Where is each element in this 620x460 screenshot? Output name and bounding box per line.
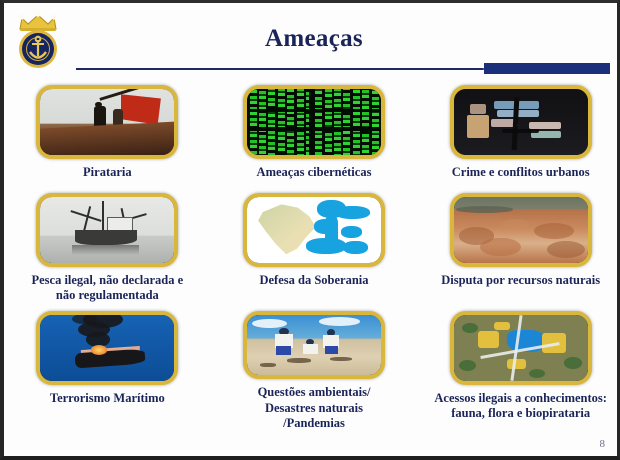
threat-caption: Pirataria xyxy=(12,165,202,180)
burning-tanker-at-sea-image xyxy=(40,315,174,381)
threat-item-pirataria[interactable]: Pirataria xyxy=(4,85,211,193)
threat-grid: Pirataria xyxy=(4,85,620,431)
threat-caption: Defesa da Soberania xyxy=(219,273,409,288)
thumbnail-frame[interactable] xyxy=(36,193,178,267)
thumbnail-frame[interactable] xyxy=(450,193,592,267)
threat-caption: Ameaças cibernéticas xyxy=(219,165,409,180)
brazil-map-blue-amazon-image xyxy=(247,197,381,263)
thumbnail-frame[interactable] xyxy=(450,85,592,159)
threat-row: Pesca ilegal, não declarada e não regula… xyxy=(4,193,620,311)
seized-contraband-weapons-image xyxy=(454,89,588,155)
threat-item-pesca-ilegal[interactable]: Pesca ilegal, não declarada e não regula… xyxy=(4,193,211,311)
title-divider xyxy=(76,67,610,70)
thumbnail-frame[interactable] xyxy=(450,311,592,385)
threat-row: Terrorismo Marítimo xyxy=(4,311,620,431)
thumbnail-frame[interactable] xyxy=(36,311,178,385)
threat-row: Pirataria xyxy=(4,85,620,193)
fishing-trawler-monochrome-image xyxy=(40,197,174,263)
beach-cleanup-workers-image xyxy=(247,315,381,375)
presentation-slide: Ameaças Pirataria xyxy=(0,0,620,460)
pirate-boat-red-flag-image xyxy=(40,89,174,155)
open-pit-mine-image xyxy=(454,197,588,263)
threat-item-ameacas-ciberneticas[interactable]: Ameaças cibernéticas xyxy=(211,85,418,193)
threat-item-terrorismo-maritimo[interactable]: Terrorismo Marítimo xyxy=(4,311,211,431)
slide-title: Ameaças xyxy=(4,25,620,53)
threat-caption: Terrorismo Marítimo xyxy=(12,391,202,406)
page-number: 8 xyxy=(600,438,606,450)
aerial-forest-river-image xyxy=(454,315,588,381)
threat-caption: Acessos ilegais a conhecimentos: fauna, … xyxy=(426,391,616,422)
threat-item-disputa-recursos-naturais[interactable]: Disputa por recursos naturais xyxy=(417,193,620,311)
threat-item-crime-conflitos-urbanos[interactable]: Crime e conflitos urbanos xyxy=(417,85,620,193)
thumbnail-frame[interactable] xyxy=(243,311,385,379)
threat-caption: Pesca ilegal, não declarada e não regula… xyxy=(12,273,202,304)
thumbnail-frame[interactable] xyxy=(243,193,385,267)
threat-item-acessos-ilegais-biopirataria[interactable]: Acessos ilegais a conhecimentos: fauna, … xyxy=(417,311,620,431)
thumbnail-frame[interactable] xyxy=(243,85,385,159)
threat-caption: Crime e conflitos urbanos xyxy=(426,165,616,180)
threat-item-questoes-ambientais[interactable]: Questões ambientais/ Desastres naturais … xyxy=(211,311,418,431)
thumbnail-frame[interactable] xyxy=(36,85,178,159)
threat-caption: Disputa por recursos naturais xyxy=(426,273,616,288)
green-matrix-code-image xyxy=(247,89,381,155)
threat-caption: Questões ambientais/ Desastres naturais … xyxy=(219,385,409,431)
threat-item-defesa-soberania[interactable]: Defesa da Soberania xyxy=(211,193,418,311)
